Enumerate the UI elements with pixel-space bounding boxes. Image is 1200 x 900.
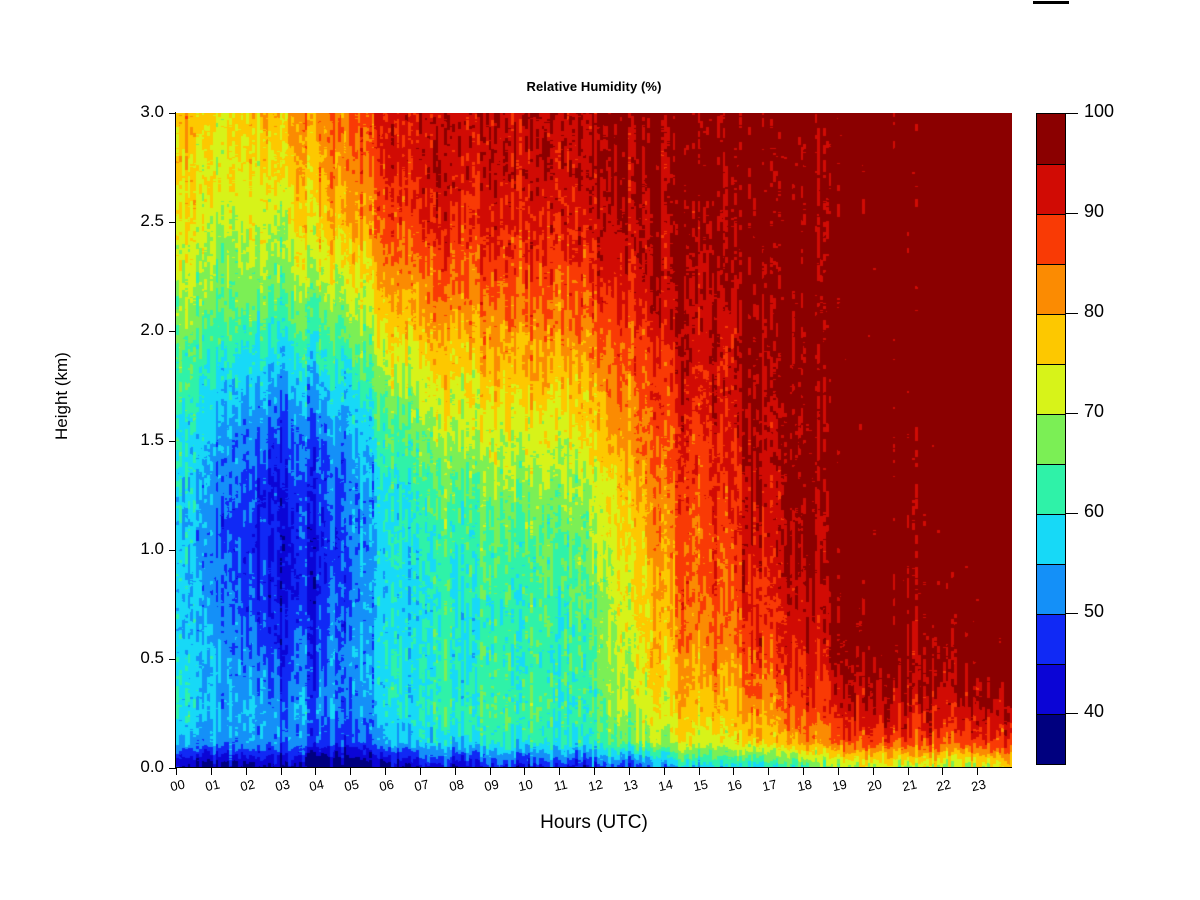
x-tick-label: 09 (482, 776, 499, 794)
x-tick-mark (315, 768, 316, 775)
colorbar-tick-mark (1066, 213, 1078, 214)
y-tick-label: 0.0 (140, 757, 164, 777)
x-tick-label: 17 (761, 776, 778, 794)
x-tick-mark (699, 768, 700, 775)
x-tick-label: 21 (900, 776, 917, 794)
x-tick-mark (385, 768, 386, 775)
colorbar-tick-mark (1066, 613, 1078, 614)
x-tick-label: 20 (866, 776, 883, 794)
x-tick-label: 06 (378, 776, 395, 794)
y-tick-label: 2.5 (140, 211, 164, 231)
x-tick-mark (420, 768, 421, 775)
colorbar-tick-mark (1066, 513, 1078, 514)
x-tick-mark (490, 768, 491, 775)
x-tick-label: 15 (691, 776, 708, 794)
x-tick-label: 13 (622, 776, 639, 794)
x-tick-mark (559, 768, 560, 775)
x-tick-mark (629, 768, 630, 775)
x-tick-label: 03 (273, 776, 290, 794)
y-tick-mark (169, 768, 176, 769)
colorbar-band (1037, 114, 1065, 164)
colorbar-tick-mark (1066, 113, 1078, 114)
x-tick-mark (838, 768, 839, 775)
y-tick-label: 3.0 (140, 102, 164, 122)
x-tick-label: 05 (343, 776, 360, 794)
colorbar-band (1037, 164, 1065, 214)
x-tick-label: 10 (517, 776, 534, 794)
y-tick-mark (169, 659, 176, 660)
x-tick-mark (176, 768, 177, 775)
colorbar-band (1037, 564, 1065, 614)
colorbar-band (1037, 614, 1065, 664)
page-title: Relative Humidity (%) (176, 79, 1012, 94)
x-tick-label: 23 (970, 776, 987, 794)
x-tick-mark (977, 768, 978, 775)
x-tick-mark (733, 768, 734, 775)
colorbar-band (1037, 314, 1065, 364)
x-tick-mark (211, 768, 212, 775)
colorbar-tick-label: 50 (1084, 601, 1104, 622)
x-tick-mark (594, 768, 595, 775)
y-tick-mark (169, 222, 176, 223)
colorbar-tick-label: 100 (1084, 101, 1114, 122)
colorbar-band (1037, 464, 1065, 514)
x-tick-label: 04 (308, 776, 325, 794)
x-tick-mark (768, 768, 769, 775)
colorbar-tick-mark (1066, 713, 1078, 714)
colorbar-band (1037, 514, 1065, 564)
x-tick-label: 11 (553, 777, 569, 794)
x-tick-label: 12 (587, 776, 604, 794)
x-tick-label: 14 (657, 776, 674, 794)
x-tick-mark (803, 768, 804, 775)
colorbar-tick-label: 80 (1084, 301, 1104, 322)
colorbar-tick-label: 90 (1084, 201, 1104, 222)
colorbar-tick-label: 40 (1084, 701, 1104, 722)
x-tick-mark (524, 768, 525, 775)
colorbar-band (1037, 664, 1065, 714)
x-tick-label: 16 (726, 776, 743, 794)
x-tick-label: 22 (935, 776, 952, 794)
x-axis-title: Hours (UTC) (176, 812, 1012, 834)
colorbar-band (1037, 714, 1065, 764)
y-tick-mark (169, 331, 176, 332)
colorbar-tick-labels: 405060708090100 (1066, 113, 1186, 765)
y-tick-label: 2.0 (140, 320, 164, 340)
x-tick-mark (246, 768, 247, 775)
x-tick-label: 08 (448, 776, 465, 794)
x-tick-mark (908, 768, 909, 775)
y-tick-label: 1.5 (140, 430, 164, 450)
x-tick-label: 02 (239, 776, 256, 794)
x-tick-label: 01 (204, 776, 221, 794)
x-tick-mark (281, 768, 282, 775)
x-tick-label: 00 (169, 776, 186, 794)
colorbar-band (1037, 214, 1065, 264)
colorbar-band (1037, 364, 1065, 414)
y-tick-label: 0.5 (140, 648, 164, 668)
colorbar-band (1037, 264, 1065, 314)
x-tick-label: 19 (831, 776, 848, 794)
y-axis: Height (km) 0.00.51.01.52.02.53.0 (0, 0, 176, 900)
colorbar-tick-label: 60 (1084, 501, 1104, 522)
heatmap-canvas (176, 113, 1012, 768)
heatmap-plot-area (176, 113, 1012, 768)
colorbar-tick-mark (1066, 313, 1078, 314)
y-tick-label: 1.0 (140, 539, 164, 559)
colorbar-band (1037, 414, 1065, 464)
colorbar-tick-mark (1066, 413, 1078, 414)
relative-humidity-figure: Relative Humidity (%) Height (km) 0.00.5… (0, 0, 1200, 900)
x-tick-mark (942, 768, 943, 775)
x-tick-mark (664, 768, 665, 775)
y-tick-mark (169, 113, 176, 114)
x-tick-label: 18 (796, 776, 813, 794)
x-tick-mark (350, 768, 351, 775)
colorbar (1036, 113, 1066, 765)
y-tick-mark (169, 441, 176, 442)
x-tick-label: 07 (413, 776, 430, 794)
x-tick-mark (873, 768, 874, 775)
colorbar-tick-label: 70 (1084, 401, 1104, 422)
top-edge-artifact (1033, 1, 1069, 4)
y-axis-title: Height (km) (52, 352, 72, 440)
x-tick-mark (455, 768, 456, 775)
y-tick-mark (169, 550, 176, 551)
